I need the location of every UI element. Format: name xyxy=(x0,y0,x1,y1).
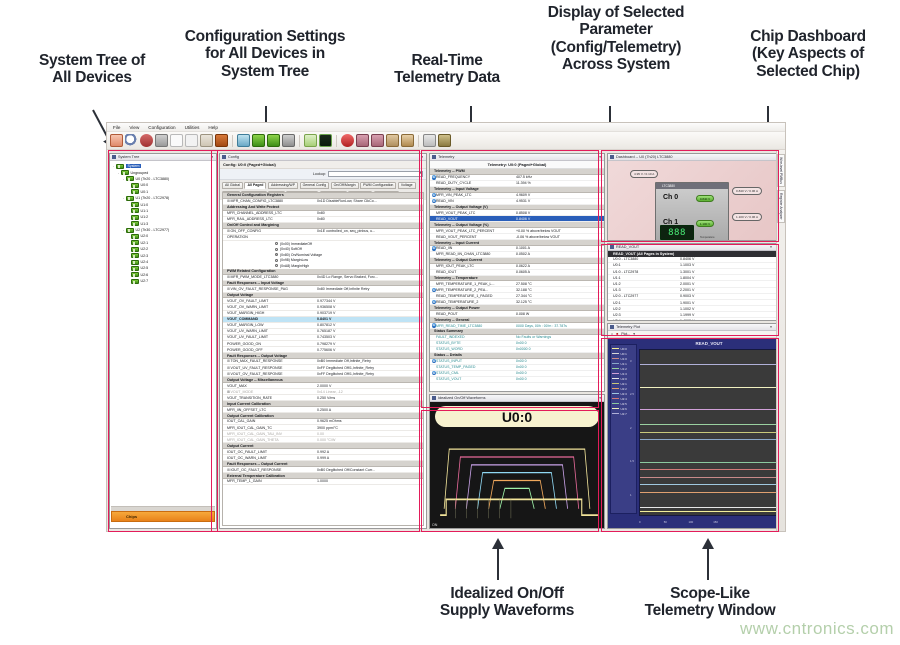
menu-bar: File View Configuration Utilities Help xyxy=(107,123,785,132)
radio-icon[interactable] xyxy=(275,264,278,267)
system-tree-body: -System-Ungrouped-U0 (7h20 - LTC3880)U0:… xyxy=(110,161,216,528)
config-key-text: IOUT_OC_FAULT_LIMIT xyxy=(227,450,267,454)
config-row-value[interactable]: 0.798279 V xyxy=(317,342,423,346)
vout-row-value: 0.9003 V xyxy=(680,294,782,298)
vout-list-rows[interactable]: U0:0 - LTC38800.8406 VU0:11.1003 VU1:0 -… xyxy=(608,257,782,320)
config-row-value[interactable]: 0.250 V/ms xyxy=(317,396,423,400)
lookup-combobox[interactable] xyxy=(328,171,423,177)
config-pin-button[interactable]: ▾ xyxy=(420,155,424,159)
vout-row-key: U0:1 xyxy=(608,263,680,267)
plot-legend[interactable]: U0:0U0:1U1:0U1:1U1:2U1:3U2:0U2:1U2:2U2:3… xyxy=(610,344,637,514)
config-row-value[interactable]: 0xFF Deglitched Off/1,Infinite_Retry xyxy=(317,372,423,376)
tree-node-label: U1:1 xyxy=(141,209,149,213)
config-row-key: IOUT_OC_WARN_LIMIT xyxy=(223,456,317,460)
config-row-value[interactable]: 0.903719 V xyxy=(317,311,423,315)
config-row-key: MFR_TEMP_1_GAIN xyxy=(223,479,317,483)
io-icon[interactable] xyxy=(237,134,250,147)
vout-row-key: U2:2 xyxy=(608,307,680,311)
config-tab-all-global[interactable]: All Global xyxy=(222,182,243,190)
waveform-trace xyxy=(466,465,567,509)
telemetry-row-value: 0x00 0 xyxy=(516,377,604,381)
telemetry-row-value: 0x00 0 xyxy=(516,359,604,363)
config-row-value[interactable]: 0x4D Lo Range, Servo Braked, Forc... xyxy=(317,275,423,279)
tree-node-label: U2:3 xyxy=(141,254,149,258)
tree-node[interactable]: U2:7 xyxy=(111,278,215,284)
legend-swatch xyxy=(612,383,619,385)
config-key-text: VOUT_OV_WARN_LIMIT xyxy=(227,305,268,309)
config-key-text: ON_OFF_CONFIG xyxy=(231,229,262,233)
plot-xtick: 100 xyxy=(689,520,694,524)
right-dock-tabstrip: Wire-level PMBus Register Analyzer xyxy=(776,151,785,531)
telemetry-row-key: STATUS_VOUT xyxy=(436,377,516,381)
radio-label: (0x40) SoftOff xyxy=(280,247,302,251)
config-row-value[interactable]: 0xFF Deglitched Off/1,Infinite_Retry xyxy=(317,366,423,370)
config-row-key: OPERATION xyxy=(223,235,317,239)
dock-tab-register-analyzer[interactable]: Register Analyzer xyxy=(777,190,784,223)
tree-pin-button[interactable]: ▾ xyxy=(210,155,214,159)
stop-icon[interactable]: ■ xyxy=(616,332,618,336)
config-row-value[interactable]: 0x80 Immediate Off,Infinite Retry xyxy=(317,287,423,291)
config-body: Config: U0:0 (Paged+Global) Lookup: All … xyxy=(220,161,426,528)
config-key-text: IOUT_CAL_GAIN xyxy=(227,419,255,423)
paste-icon[interactable] xyxy=(200,134,213,147)
config-row-key: VOUT_COMMAND xyxy=(223,317,317,321)
telemetry-row-value: 4.9531 V xyxy=(516,199,604,203)
screen-green-icon[interactable] xyxy=(319,134,332,147)
device-tree[interactable]: -System-Ungrouped-U0 (7h20 - LTC3880)U0:… xyxy=(110,161,216,286)
dashboard-window-icon xyxy=(610,155,614,159)
tree-node-label: U1:0 xyxy=(141,203,149,207)
config-key-text: POWER_GOOD_OFF xyxy=(227,348,263,352)
config-row-value[interactable]: 3900 ppm/°C xyxy=(317,426,423,430)
annotation-parameter: Display of Selected Parameter (Config/Te… xyxy=(516,4,716,73)
chip-icon xyxy=(131,234,139,239)
mdi-document-area: System Tree ▾ -System-Ungrouped-U0 (7h20… xyxy=(107,151,785,531)
config-tab-on-off-margin[interactable]: On/Off/Margin xyxy=(331,182,359,190)
matrix-icon[interactable] xyxy=(423,134,436,147)
annotation-waveforms: Idealized On/Off Supply Waveforms xyxy=(412,585,602,620)
chip-icon xyxy=(131,272,139,277)
telemetry-titlebar[interactable]: Telemetry ▾ xyxy=(430,154,604,161)
config-key-text: VOUT_OV_FAULT_RESPONSE xyxy=(231,372,283,376)
vout-row-value: 1.8004 V xyxy=(680,276,782,280)
system-tree-window: System Tree ▾ -System-Ungrouped-U0 (7h20… xyxy=(109,153,217,529)
config-key-text: MFR_RAIL_ADDRESS_LTC xyxy=(227,217,273,221)
tree-node-label: U0:0 xyxy=(141,183,149,187)
tree-node-label: U2:7 xyxy=(141,279,149,283)
telemetry-row-key: READ_POUT xyxy=(436,312,516,316)
waveform-body: U0:0 ON xyxy=(430,402,604,528)
config-row-key: MFR_IOUT_CAL_GAIN_TAU_INV xyxy=(223,432,317,436)
config-row-value[interactable]: 0.8401 V xyxy=(317,317,423,321)
plot-ytick: 1 xyxy=(630,493,632,497)
telemetry-row-key: MFR_VOUT_PEAK_LTC xyxy=(436,211,516,215)
config-row-key: IOUT_CAL_GAIN xyxy=(223,419,317,423)
telemetry-row-value: 0.0502 A xyxy=(516,252,604,256)
arrowhead-waveforms xyxy=(492,538,504,549)
vout-row-key: U1:0 - LTC2978 xyxy=(608,270,680,274)
config-row-key: VOUT_TRANSITION_RATE xyxy=(223,396,317,400)
plot-trace xyxy=(640,424,778,425)
telemetry-row-key: MFR_IOUT_PEAK_LTC xyxy=(436,264,516,268)
table-icon[interactable] xyxy=(155,134,168,147)
config-row-value[interactable]: 0.2500 A xyxy=(317,408,423,412)
config-row[interactable]: MFR_TEMP_1_GAIN1.0000 xyxy=(223,479,423,485)
channel-0-callout: 0.840 V / 0.06 A xyxy=(732,187,762,195)
legend-swatch xyxy=(612,413,619,415)
telemetry-row-value: 11.394 % xyxy=(516,181,604,185)
config-key-text: VOUT_COMMAND xyxy=(227,317,258,321)
tree-window-icon xyxy=(112,155,116,159)
config-row-key: IOUT_OC_FAULT_LIMIT xyxy=(223,450,317,454)
annotation-config: Configuration Settings for All Devices i… xyxy=(140,28,390,80)
config-key-text: VIN_OV_FAULT_RESPONSE_PAG xyxy=(231,287,288,291)
tree-node-label: U1:2 xyxy=(141,215,149,219)
config-row-value[interactable]: 0.00 xyxy=(317,432,423,436)
radio-icon[interactable] xyxy=(275,248,278,251)
plot-chart-title: READ_VOUT xyxy=(639,341,779,346)
waveform-titlebar[interactable]: Idealized On/Off Waveforms ▾ xyxy=(430,395,604,402)
config-key-text: MFR_IOUT_CAL_GAIN_THETA xyxy=(227,438,279,442)
config-row-value[interactable]: 0.807812 V xyxy=(317,323,423,327)
annotation-dashboard: Chip Dashboard (Key Aspects of Selected … xyxy=(718,28,898,80)
legend-label: U2:2 xyxy=(621,387,627,391)
vout-row-key: U2:0 - LTC2977 xyxy=(608,294,680,298)
legend-label: U0:1 xyxy=(621,352,627,356)
telemetry-row-value: 27.508 °C xyxy=(516,282,604,286)
config-row-value[interactable]: 0xB0 Deglitched Off/Constant Curr... xyxy=(317,468,423,472)
vout-row-value: 1.4003 V xyxy=(680,319,782,320)
config-tab-pwm-configuration[interactable]: PWM Configuration xyxy=(360,182,396,190)
telemetry-row-key: MFR_VIN_PEAK_LTC xyxy=(436,193,516,197)
alert-icon[interactable] xyxy=(401,134,414,147)
vout-row-key: U2:3 xyxy=(608,313,680,317)
config-key-text: MFR_CHAN_CONFIG_LTC3880 xyxy=(231,199,283,203)
chips-button-label: Chips xyxy=(126,514,137,519)
config-row-key: ⊞MFR_PWM_MODE_LTC3880 xyxy=(223,275,317,279)
chip-tan-icon[interactable] xyxy=(386,134,399,147)
telemetry-pin-button[interactable]: ▾ xyxy=(598,155,602,159)
plot-trace xyxy=(640,492,778,493)
vout-row-key: U1:2 xyxy=(608,282,680,286)
plot-trace xyxy=(640,477,778,478)
plot-trace xyxy=(640,511,778,512)
legend-swatch xyxy=(612,398,619,400)
telemetry-row-key: STATUS_INPUT xyxy=(436,359,516,363)
config-row-key: POWER_GOOD_OFF xyxy=(223,348,317,352)
config-row-value[interactable]: 0.000 °C/W xyxy=(317,438,423,442)
telemetry-row-key: FAULT_INDEXED xyxy=(436,335,516,339)
radio-label: (0x98) MarginLow xyxy=(280,258,308,262)
waveform-pin-button[interactable]: ▾ xyxy=(598,396,602,400)
vout-row-value: 2.2001 V xyxy=(680,288,782,292)
drop-icon[interactable] xyxy=(438,134,451,147)
vout-list-titlebar[interactable]: READ_VOUT ▾ ✕ xyxy=(608,244,782,251)
chip-green-icon[interactable] xyxy=(252,134,265,147)
config-row-value[interactable]: 1.0000 xyxy=(317,479,423,483)
telemetry-row-value: No Faults or Warnings xyxy=(516,335,604,339)
radio-icon[interactable] xyxy=(275,259,278,262)
dashboard-titlebar[interactable]: Dashboard -- U0 (7h20) LTC3880 ✕ xyxy=(608,154,782,161)
plot-titlebar[interactable]: Telemetry Plot ▾ ✕ xyxy=(608,324,782,331)
radio-icon[interactable] xyxy=(275,242,278,245)
legend-label: U1:1 xyxy=(621,362,627,366)
config-row-key: VOUT_MARGIN_LOW xyxy=(223,323,317,327)
toolbar-separator-4 xyxy=(418,135,419,147)
legend-label: U1:0 xyxy=(621,357,627,361)
vout-row-key: U1:1 xyxy=(608,276,680,280)
telemetry-row-key: MFR_VOUT_PEAK_LTC_PERCENT xyxy=(436,229,516,233)
config-key-text: VOUT_MAX xyxy=(227,384,247,388)
save-icon[interactable] xyxy=(110,134,123,147)
vout-row-value: 1.3001 V xyxy=(680,270,782,274)
menu-item-help[interactable]: Help xyxy=(208,125,217,130)
config-row-value[interactable]: 0.765187 V xyxy=(317,329,423,333)
plot-trace xyxy=(640,439,778,440)
tree-node-label: U2:2 xyxy=(141,247,149,251)
telemetry-row[interactable]: STATUS_VOUT0x00 0 xyxy=(430,377,604,383)
config-row-key: POWER_GOOD_ON xyxy=(223,342,317,346)
config-key-text: VOUT_UV_FAULT_LIMIT xyxy=(227,335,268,339)
menu-item-view[interactable]: View xyxy=(129,125,139,130)
config-row-value[interactable]: 0x80 xyxy=(317,217,423,221)
config-row-value[interactable]: 0.977344 V xyxy=(317,299,423,303)
config-key-text: MFR_PWM_MODE_LTC3880 xyxy=(231,275,279,279)
vout-row-value: 1.1003 V xyxy=(680,263,782,267)
tree-node-label: U2:1 xyxy=(141,241,149,245)
config-key-text: VOUT_UV_WARN_LIMIT xyxy=(227,329,268,333)
chip-icon xyxy=(131,247,139,252)
plot-canvas[interactable] xyxy=(639,349,779,516)
telemetry-row-value: 32.125 °C xyxy=(516,300,604,304)
config-tab-voltage[interactable]: Voltage xyxy=(398,182,416,190)
telemetry-row-value: 0000 Days, 00h : 00'm : 37.787s xyxy=(516,324,604,328)
telemetry-row-value: 0x00 0 xyxy=(516,371,604,375)
channel-1-led[interactable]: 1.100 V xyxy=(696,220,714,227)
chip-pink2-icon[interactable] xyxy=(371,134,384,147)
config-row-value[interactable]: 0x80 xyxy=(317,211,423,215)
waveform-canvas[interactable]: U0:0 ON xyxy=(430,402,604,528)
channel-0-label: Ch 0 xyxy=(663,194,678,201)
telemetry-row-value: 0x00 0 xyxy=(516,341,604,345)
printer-icon[interactable] xyxy=(282,134,295,147)
tree-node-label: U2:5 xyxy=(141,266,149,270)
config-tab-all-paged[interactable]: All Paged xyxy=(244,182,266,190)
chips-button[interactable]: Chips xyxy=(111,511,215,522)
telemetry-row-key: STATUS_CML xyxy=(436,371,516,375)
config-key-text: MFR_IIN_OFFSET_LTC xyxy=(227,408,266,412)
telemetry-row-value: 0x00 0 xyxy=(516,365,604,369)
tree-node-label: U2:6 xyxy=(141,273,149,277)
chip-green2-icon[interactable] xyxy=(267,134,280,147)
calculator-icon[interactable] xyxy=(215,134,228,147)
waveform-on-label: ON xyxy=(432,523,437,527)
telemetry-row-value: 0.0605 A xyxy=(516,270,604,274)
config-key-text: VOUT_UV_FAULT_RESPONSE xyxy=(231,366,283,370)
config-titlebar[interactable]: Config ▾ xyxy=(220,154,426,161)
config-row-key: MFR_IOUT_CAL_GAIN_THETA xyxy=(223,438,317,442)
legend-label: U2:6 xyxy=(621,407,627,411)
config-title: Config xyxy=(228,155,239,159)
system-tree-title: System Tree xyxy=(118,155,139,159)
config-row-value[interactable]: 0xB0 Immediate Off,Infinite_Retry xyxy=(317,359,423,363)
config-property-grid[interactable]: General Configuration Registers⊞MFR_CHAN… xyxy=(222,192,424,526)
telemetry-row-key: MFR_TEMPERATURE_1_PEAK_L... xyxy=(436,282,516,286)
telemetry-column: Telemetry ▾ Telemetry: U0:0 (Paged+Globa… xyxy=(429,153,605,529)
telemetry-row-value: 407.5 kHz xyxy=(516,175,604,179)
plot-menu-button[interactable]: Plot... xyxy=(621,332,630,336)
chip-icon xyxy=(131,215,139,220)
config-tab-general-config[interactable]: General Config xyxy=(300,182,330,190)
config-row-value[interactable]: 2.0000 V xyxy=(317,384,423,388)
config-row-key: ⊞VIN_OV_FAULT_RESPONSE_PAG xyxy=(223,287,317,291)
lookup-label: Lookup: xyxy=(313,172,326,176)
tree-node-label: U2:0 xyxy=(141,234,149,238)
legend-label: U2:7 xyxy=(621,412,627,416)
toolbar-separator-1 xyxy=(232,135,233,147)
dashboard-body: 4.95 V / 0.10 A LTC3880 Ch 0 Ch 1 0.840 … xyxy=(608,161,782,240)
legend-swatch xyxy=(612,378,619,380)
legend-swatch xyxy=(612,408,619,410)
pmbus-icon[interactable] xyxy=(304,134,317,147)
chip-icon xyxy=(126,228,134,233)
config-row-value[interactable]: 0.775606 V xyxy=(317,348,423,352)
system-tree-titlebar[interactable]: System Tree ▾ xyxy=(110,154,216,161)
chip-icon xyxy=(131,221,139,226)
chip-icon xyxy=(116,164,124,169)
telemetry-row-key: STATUS_BYTE xyxy=(436,341,516,345)
legend-swatch xyxy=(612,353,619,355)
new-file-icon[interactable] xyxy=(170,134,183,147)
vin-callout: 4.95 V / 0.10 A xyxy=(630,170,658,178)
config-row-key: VOUT_UV_FAULT_LIMIT xyxy=(223,335,317,339)
config-row-value[interactable]: 0.9625 mOhms xyxy=(317,419,423,423)
dashboard-window: Dashboard -- U0 (7h20) LTC3880 ✕ 4.95 V … xyxy=(607,153,783,241)
legend-swatch xyxy=(612,348,619,350)
config-row-value[interactable]: 0x14 Linear, -12 xyxy=(317,390,423,394)
copy-icon[interactable] xyxy=(185,134,198,147)
config-row-key: VOUT_UV_WARN_LIMIT xyxy=(223,329,317,333)
dock-tab-wire-level-pmbus[interactable]: Wire-level PMBus xyxy=(777,154,784,187)
channel-0-led[interactable]: 0.840 V xyxy=(696,195,714,202)
vout-row-key: U1:3 xyxy=(608,288,680,292)
plot-ytick: 1.5 xyxy=(630,459,634,463)
config-key-text: TON_MAX_FAULT_RESPONSE xyxy=(231,359,283,363)
config-row-value[interactable]: 0.999 A xyxy=(317,456,423,460)
chip-icon xyxy=(131,266,139,271)
tree-node-label: U1:3 xyxy=(141,222,149,226)
chevron-down-icon[interactable]: ▾ xyxy=(633,332,635,336)
config-tab-addressing-wp[interactable]: Addressing/WP xyxy=(268,182,298,190)
legend-label: U2:1 xyxy=(621,382,627,386)
plot-minimize-button[interactable]: ▾ xyxy=(769,325,773,329)
telemetry-row-key: STATUS_WORD xyxy=(436,347,516,351)
telemetry-row-key: READ_VIN xyxy=(436,199,516,203)
telemetry-grid[interactable]: Telemetry -- PWMGREAD_FREQUENCY407.5 kHz… xyxy=(430,169,604,383)
config-row-key: MFR_CHANNEL_ADDRESS_LTC xyxy=(223,211,317,215)
config-key-text: OPERATION xyxy=(227,235,248,239)
telemetry-row-value: +0.00 % above/below VOUT xyxy=(516,229,604,233)
telemetry-window: Telemetry ▾ Telemetry: U0:0 (Paged+Globa… xyxy=(429,153,605,392)
vout-row-key: U2:1 xyxy=(608,301,680,305)
config-row-key: ⊞ON_OFF_CONFIG xyxy=(223,229,317,233)
application-window: File View Configuration Utilities Help xyxy=(106,122,786,532)
telemetry-row-value: 0x0000 0 xyxy=(516,347,604,351)
chip-pink-icon[interactable] xyxy=(356,134,369,147)
legend-swatch xyxy=(612,388,619,390)
config-key-text: VOUT_TRANSITION_RATE xyxy=(227,396,272,400)
chip-icon xyxy=(131,208,139,213)
plot-trace xyxy=(640,364,778,365)
menu-item-configuration[interactable]: Configuration xyxy=(148,125,175,130)
clock-red-icon[interactable] xyxy=(341,134,354,147)
vout-row-value: 1.9001 V xyxy=(680,301,782,305)
config-row-key: ⊞IOUT_OC_FAULT_RESPONSE xyxy=(223,468,317,472)
config-row-key: MFR_IOUT_CAL_GAIN_TC xyxy=(223,426,317,430)
telemetry-row-value: 0.008 W xyxy=(516,312,604,316)
home-icon[interactable]: ⌂ xyxy=(611,332,613,336)
plot-body: ⌂ ■ Plot... ▾ READ_VOUT U0:0U0:1U1:0U1:1… xyxy=(608,331,782,528)
telemetry-row-key: READ_TEMPERATURE_2 xyxy=(436,300,516,304)
vout-row[interactable]: U2:41.4003 V xyxy=(608,318,782,320)
config-row-key: ⊞VOUT_MODE xyxy=(223,390,317,394)
dashboard-title: Dashboard -- U0 (7h20) LTC3880 xyxy=(616,155,673,159)
tree-node-label: U0 (7h20 - LTC3880) xyxy=(136,177,170,181)
refresh-icon[interactable] xyxy=(140,134,153,147)
legend-label: U2:3 xyxy=(621,392,627,396)
radio-label: (0x00) ImmediateOff xyxy=(280,242,312,246)
watermark: www.cntronics.com xyxy=(740,619,894,639)
toolbar-separator-2 xyxy=(299,135,300,147)
config-key-text: VOUT_MARGIN_LOW xyxy=(227,323,264,327)
config-key-text: VOUT_MODE xyxy=(231,390,254,394)
config-row-key: ⊞VOUT_OV_FAULT_RESPONSE xyxy=(223,372,317,376)
config-row-value[interactable]: 0x1E controlled_on, seq_pinbus, u... xyxy=(317,229,423,233)
chip-icon xyxy=(131,260,139,265)
plot-area: READ_VOUT U0:0U0:1U1:0U1:1U1:2U1:3U2:0U2… xyxy=(608,338,782,528)
telemetry-body: Telemetry: U0:0 (Paged+Global) Telemetry… xyxy=(430,161,604,391)
telemetry-row-value: 27.344 °C xyxy=(516,294,604,298)
config-key-text: VOUT_MARGIN_HIGH xyxy=(227,311,264,315)
config-row-key: VOUT_OV_FAULT_LIMIT xyxy=(223,299,317,303)
config-row-value[interactable]: 0.992 A xyxy=(317,450,423,454)
chip-icon xyxy=(131,253,139,258)
config-row-value[interactable]: 0.936508 V xyxy=(317,305,423,309)
telemetry-row-key: READ_VOUT xyxy=(436,217,516,221)
config-window-icon xyxy=(222,155,226,159)
telemetry-row-value: 4.9609 V xyxy=(516,193,604,197)
menu-item-utilities[interactable]: Utilities xyxy=(185,125,200,130)
vout-minimize-button[interactable]: ▾ xyxy=(769,245,773,249)
chip-graphic-header: LTC3880 xyxy=(656,183,728,189)
config-row-value[interactable]: 0.743503 V xyxy=(317,335,423,339)
search-icon[interactable] xyxy=(125,134,138,147)
leader-line-waveforms xyxy=(497,546,499,580)
radio-icon[interactable] xyxy=(275,253,278,256)
telemetry-row-key: MFR_READ_IIN_CHAN_LTC3880 xyxy=(436,252,516,256)
config-row-value[interactable]: 0x1D DisableRunLow, Share ClkCo... xyxy=(317,199,423,203)
config-row-key: MFR_IIN_OFFSET_LTC xyxy=(223,408,317,412)
plot-trace xyxy=(640,387,778,388)
plot-legend-item[interactable]: U2:7 xyxy=(612,411,635,416)
config-key-text: POWER_GOOD_ON xyxy=(227,342,261,346)
chip-graphic: LTC3880 Ch 0 Ch 1 0.840 V 1.100 V 888 Te… xyxy=(655,182,729,240)
tree-node-label: System xyxy=(126,164,142,168)
config-lookup-bar: Lookup: xyxy=(220,169,426,180)
telemetry-row-key: MFR_READ_TIME_LTC3880 xyxy=(436,324,516,328)
telemetry-row-key: READ_TEMPERATURE_1_PAGED xyxy=(436,294,516,298)
menu-item-file[interactable]: File xyxy=(113,125,120,130)
